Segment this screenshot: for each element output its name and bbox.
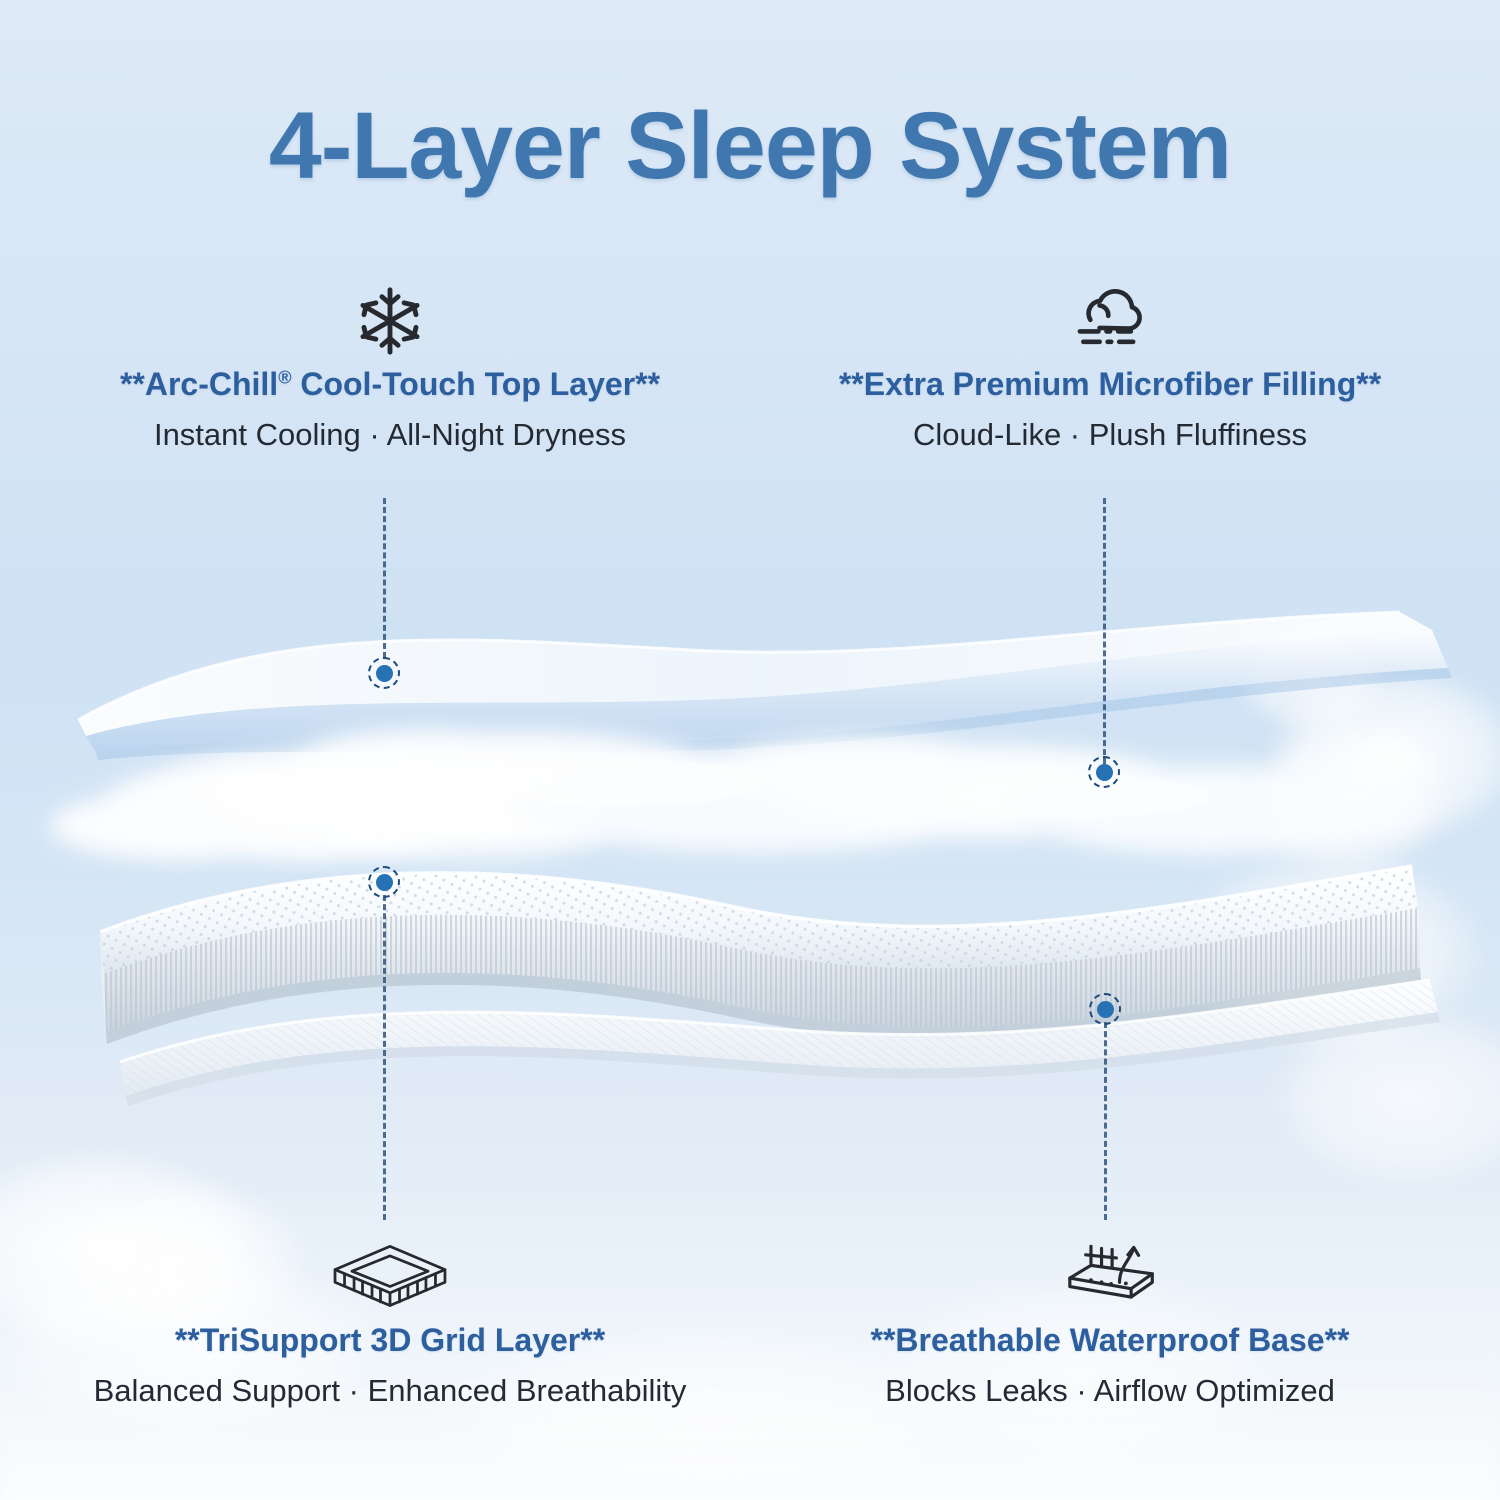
feature-subtitle: Cloud-Like · Plush Fluffiness bbox=[760, 417, 1460, 453]
snowflake-icon bbox=[40, 282, 740, 360]
feature-subtitle: Blocks Leaks · Airflow Optimized bbox=[760, 1373, 1460, 1409]
feature-title: **TriSupport 3D Grid Layer** bbox=[20, 1322, 760, 1359]
3d-grid-mesh-icon bbox=[20, 1238, 760, 1316]
connector-line-top-layer bbox=[383, 498, 386, 658]
feature-arc-chill-cool-touch-top-layer: **Arc-Chill® Cool-Touch Top Layer** Inst… bbox=[40, 282, 740, 453]
marker-dot-3d-grid-layer[interactable] bbox=[368, 866, 400, 898]
feature-title: **Extra Premium Microfiber Filling** bbox=[760, 366, 1460, 403]
infographic-canvas: 4-Layer Sleep System bbox=[0, 0, 1500, 1500]
feature-title: **Arc-Chill® Cool-Touch Top Layer** bbox=[40, 366, 740, 403]
feature-trisupport-3d-grid-layer: **TriSupport 3D Grid Layer** Balanced Su… bbox=[20, 1238, 760, 1409]
waterproof-airflow-fabric-icon bbox=[760, 1238, 1460, 1316]
cloud-airflow-icon bbox=[760, 282, 1460, 360]
feature-title: **Breathable Waterproof Base** bbox=[760, 1322, 1460, 1359]
page-title: 4-Layer Sleep System bbox=[0, 92, 1500, 201]
marker-dot-top-layer[interactable] bbox=[368, 657, 400, 689]
layer-cool-touch-top-sheet bbox=[78, 612, 1452, 760]
feature-extra-premium-microfiber-filling: **Extra Premium Microfiber Filling** Clo… bbox=[760, 282, 1460, 453]
layer-stack-illustration bbox=[0, 560, 1500, 1160]
connector-line-waterproof-base bbox=[1104, 1022, 1107, 1220]
feature-breathable-waterproof-base: **Breathable Waterproof Base** Blocks Le… bbox=[760, 1238, 1460, 1409]
feature-subtitle: Balanced Support · Enhanced Breathabilit… bbox=[20, 1373, 760, 1409]
connector-line-microfiber-filling bbox=[1103, 498, 1106, 773]
connector-line-3d-grid-layer bbox=[383, 895, 386, 1220]
feature-subtitle: Instant Cooling · All-Night Dryness bbox=[40, 417, 740, 453]
marker-dot-waterproof-base[interactable] bbox=[1089, 993, 1121, 1025]
marker-dot-microfiber-filling[interactable] bbox=[1088, 756, 1120, 788]
